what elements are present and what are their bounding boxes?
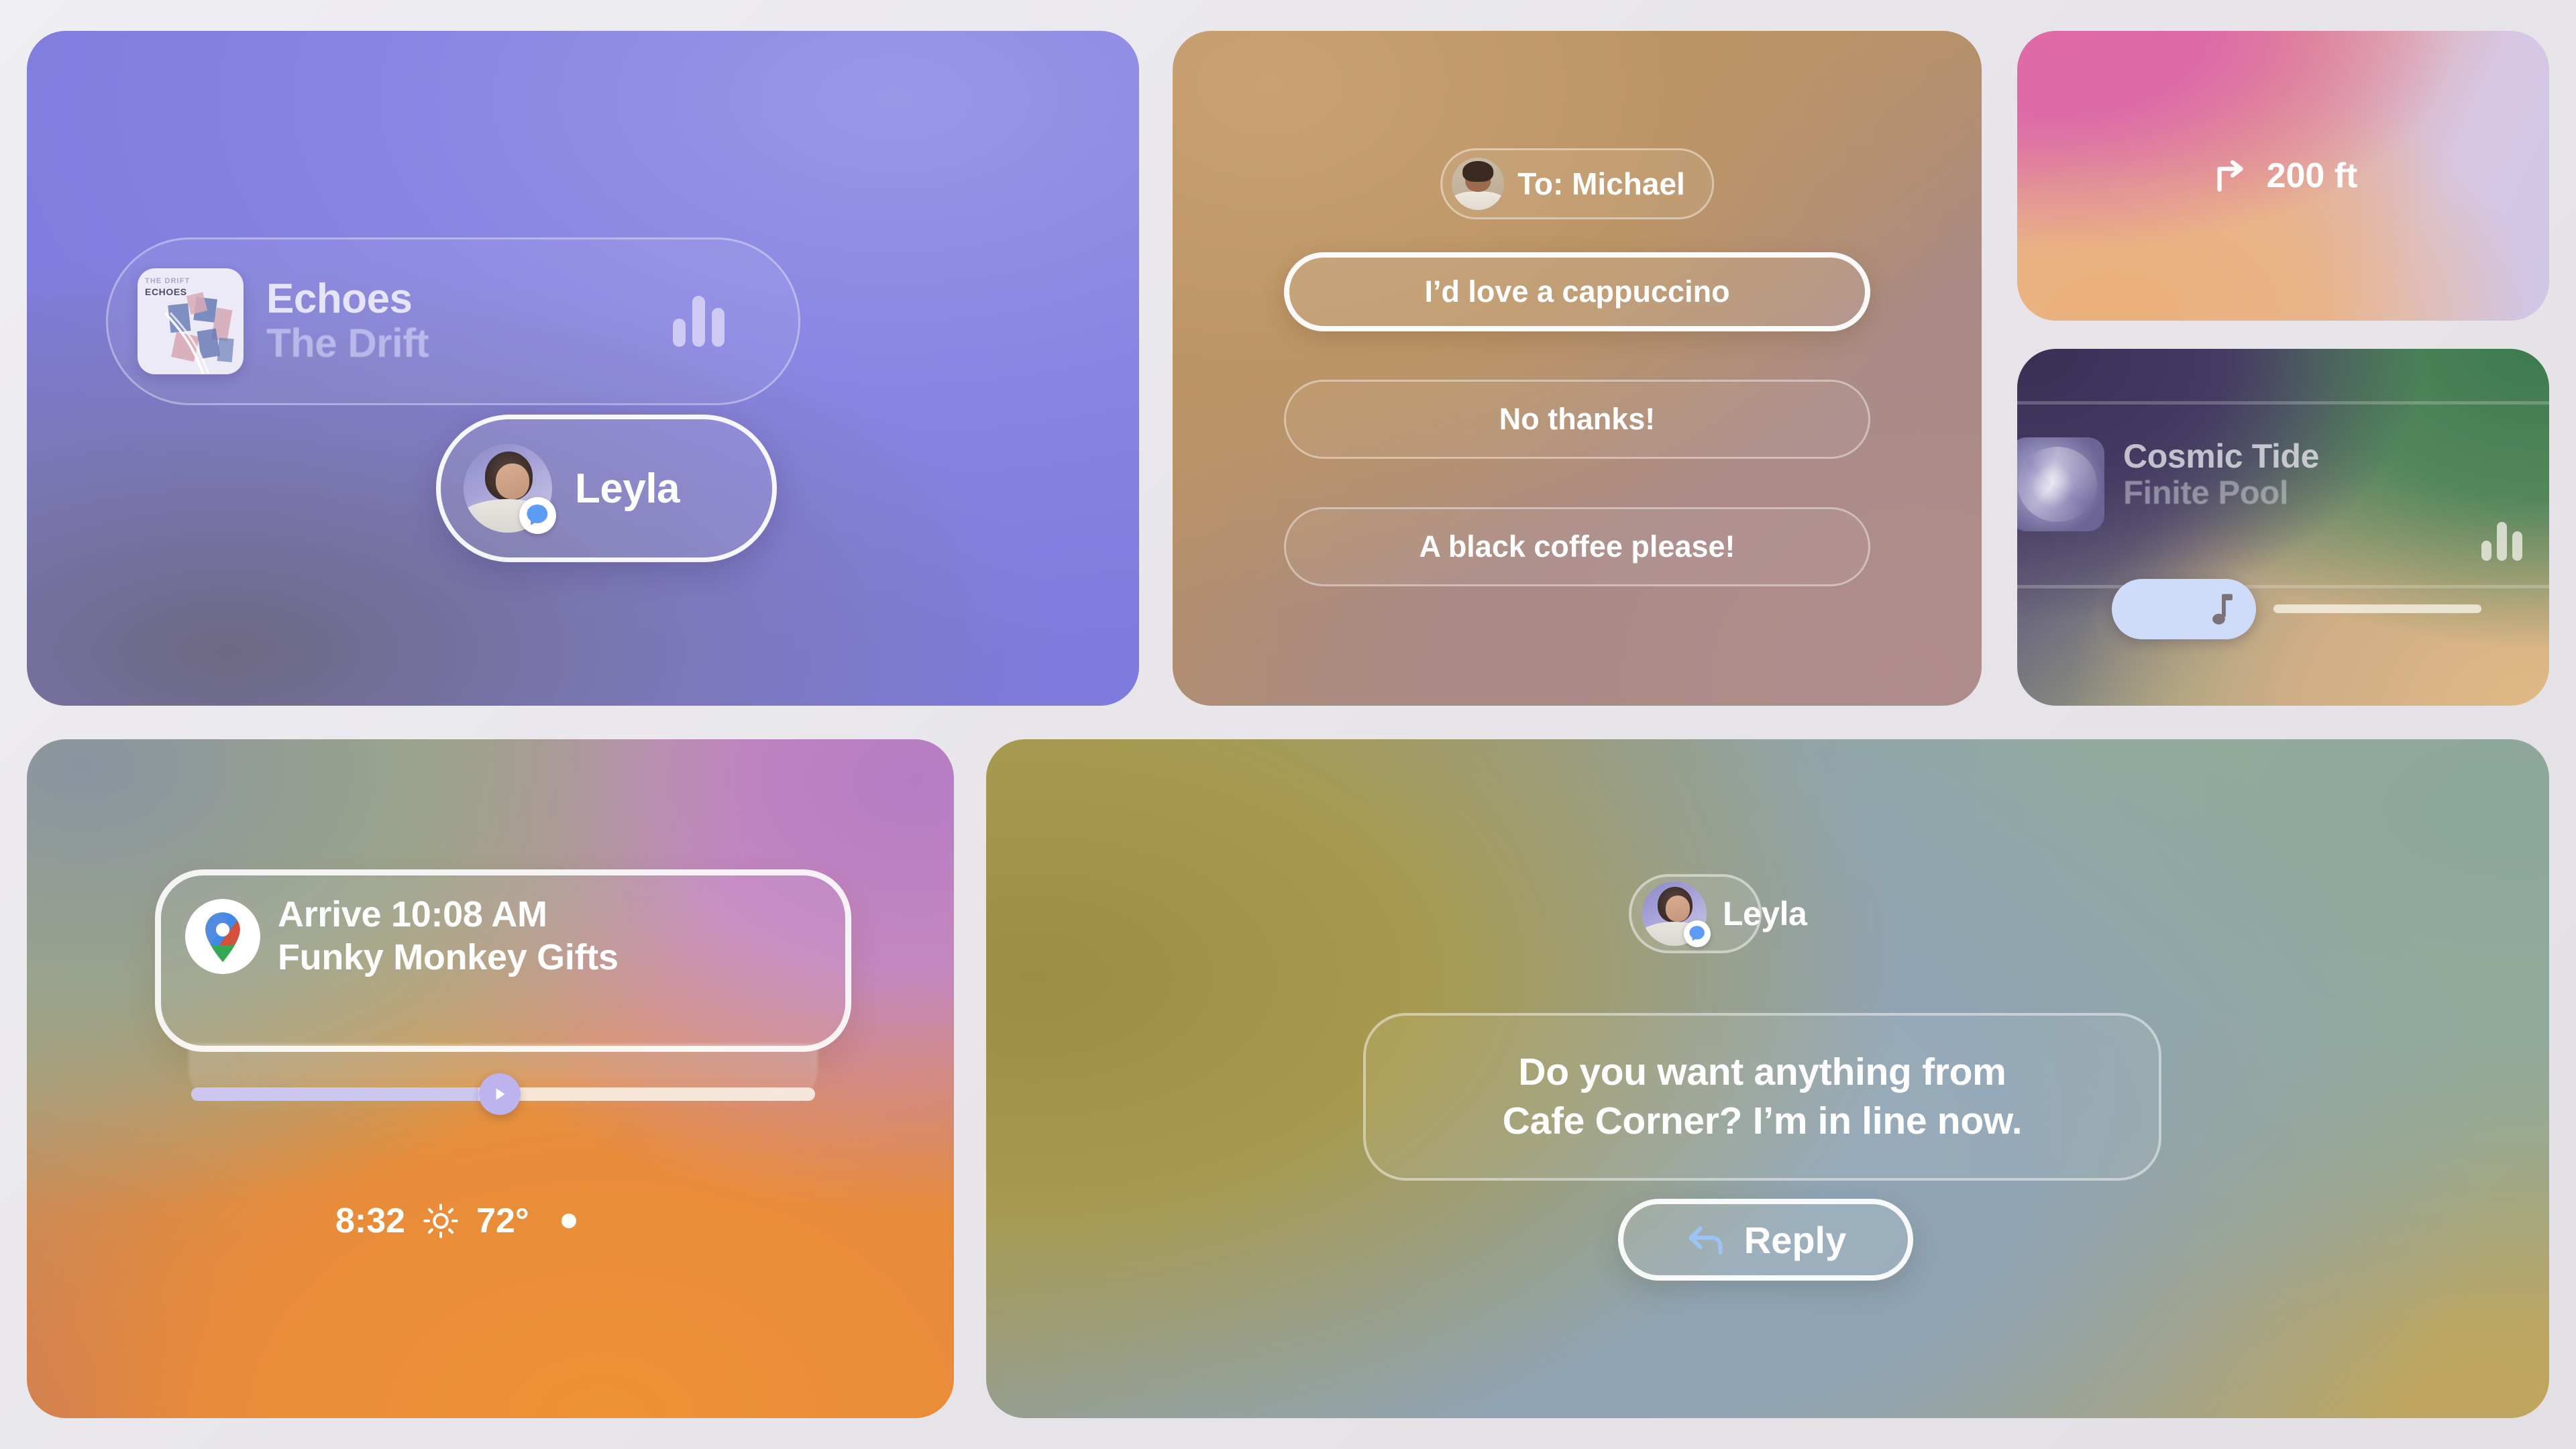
reply-option-0[interactable]: I’d love a cappuccino [1284,252,1870,331]
music-now-playing-card[interactable]: THE DRIFT ECHOES Echoes The Drift [27,31,1139,706]
music-note-icon [2208,592,2236,627]
sender-chip-leyla[interactable]: Leyla [1629,874,1762,953]
cosmic-tide-music-card[interactable]: Cosmic Tide Finite Pool [2017,349,2549,706]
widget-dashboard: THE DRIFT ECHOES Echoes The Drift [0,0,2576,1449]
reply-button-label: Reply [1744,1218,1847,1262]
smart-reply-card[interactable]: To: Michael I’d love a cappuccino No tha… [1173,31,1982,706]
track-artist: The Drift [266,322,429,366]
album-art-main-label: ECHOES [145,286,190,297]
recipient-chip[interactable]: To: Michael [1440,148,1714,219]
reply-arrow-icon [1685,1222,1727,1258]
avatar [464,444,552,533]
track-artist: Finite Pool [2123,475,2319,512]
arrive-destination: Funky Monkey Gifts [278,936,619,979]
track-title: Echoes [266,277,429,322]
contact-name: Leyla [575,465,680,513]
now-playing-pill[interactable]: THE DRIFT ECHOES Echoes The Drift [106,237,800,405]
album-art-thumbnail: THE DRIFT ECHOES [138,268,244,374]
navigation-card[interactable]: 200 ft [2017,31,2549,321]
route-progress-thumb[interactable] [479,1073,521,1115]
dot-icon [561,1214,576,1228]
music-player-pill[interactable] [2112,579,2256,639]
message-bubble: Do you want anything from Cafe Corner? I… [1363,1013,2161,1181]
reply-button[interactable]: Reply [1618,1199,1913,1281]
equalizer-icon [673,296,724,347]
reply-option-2[interactable]: A black coffee please! [1284,507,1870,586]
avatar [1642,881,1707,946]
album-art-top-label: THE DRIFT [145,277,190,285]
google-maps-pin-icon [185,899,260,974]
sender-name: Leyla [1723,894,1807,933]
status-row: 8:32 72° [335,1201,576,1241]
track-title: Cosmic Tide [2123,437,2319,475]
google-messages-icon [519,497,556,534]
album-art-thumbnail [2017,437,2104,531]
avatar [1452,158,1504,210]
recipient-label: To: Michael [1517,166,1685,202]
status-temperature: 72° [476,1201,529,1241]
equalizer-icon [2481,522,2522,561]
message-line-2: Cafe Corner? I’m in line now. [1503,1099,2023,1142]
status-time: 8:32 [335,1201,405,1241]
play-triangle-icon [491,1084,508,1104]
divider-top [2017,401,2549,405]
arrive-eta: Arrive 10:08 AM [278,894,619,936]
sun-icon [423,1203,459,1239]
route-progress-fill [191,1087,478,1101]
turn-right-icon [2209,155,2251,197]
navigation-distance: 200 ft [2267,156,2358,196]
divider-bottom [2017,585,2549,588]
contact-chip-leyla[interactable]: Leyla [436,415,777,562]
reply-option-1[interactable]: No thanks! [1284,380,1870,459]
google-messages-icon [1684,920,1711,947]
message-line-1: Do you want anything from [1518,1051,2006,1093]
playback-progress-track[interactable] [2273,604,2481,613]
